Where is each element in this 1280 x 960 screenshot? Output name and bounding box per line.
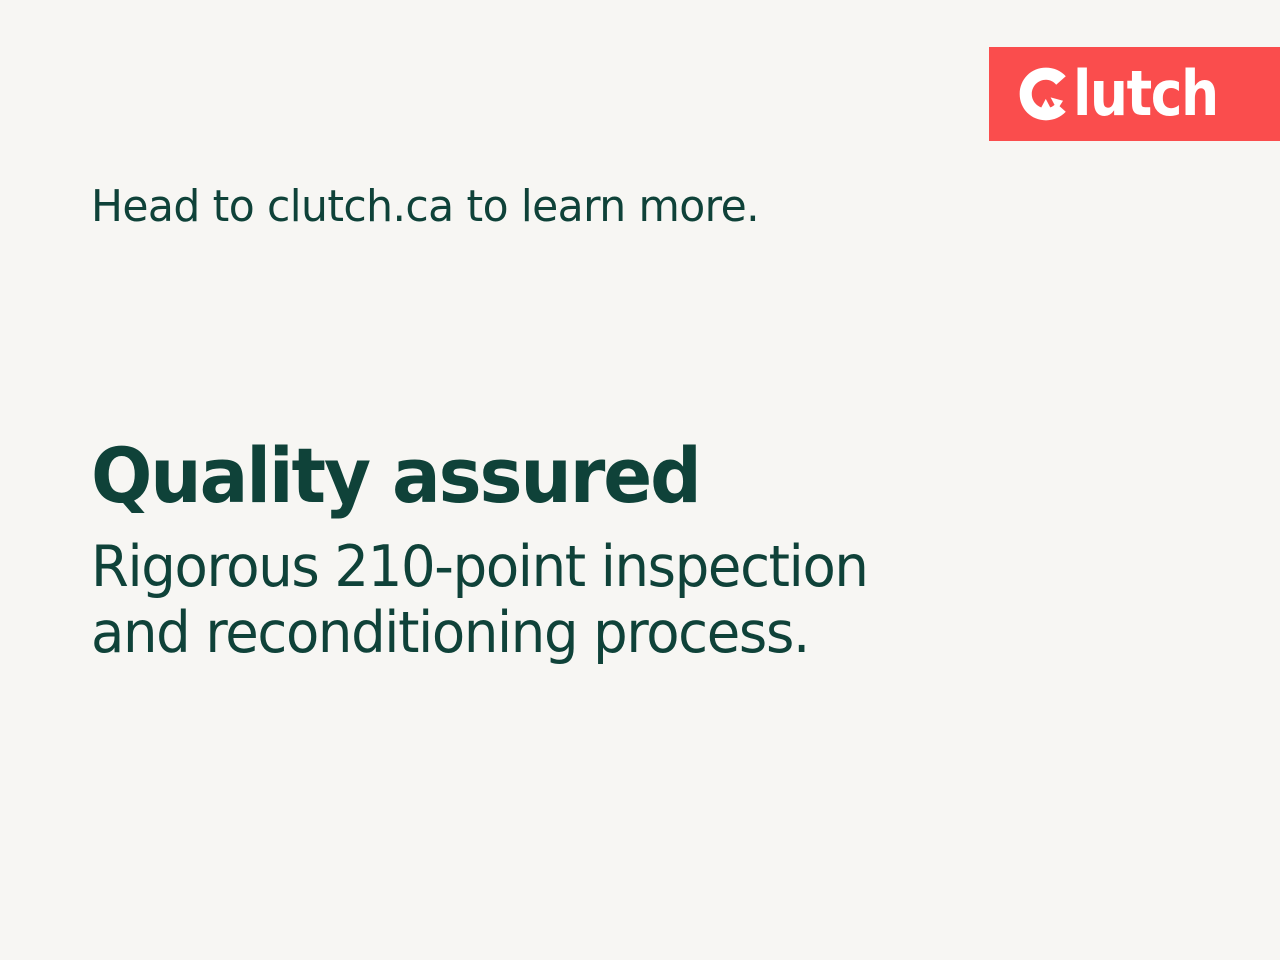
headline-block: Quality assured Rigorous 210-point inspe… (91, 432, 991, 666)
page-title: Quality assured (91, 432, 946, 520)
subcopy-text: Rigorous 210-point inspection and recond… (91, 534, 951, 666)
clutch-logo-lockup: lutch (1018, 66, 1224, 122)
subcopy-line-2: and reconditioning process. (91, 600, 951, 666)
tagline-text: Head to clutch.ca to learn more. (91, 181, 759, 233)
clutch-wordmark: lutch (1073, 66, 1218, 122)
clutch-logo-badge[interactable]: lutch (989, 47, 1280, 141)
promo-slide: lutch Head to clutch.ca to learn more. Q… (0, 0, 1280, 960)
clutch-c-mark-icon (1018, 66, 1074, 122)
subcopy-line-1: Rigorous 210-point inspection (91, 534, 951, 600)
